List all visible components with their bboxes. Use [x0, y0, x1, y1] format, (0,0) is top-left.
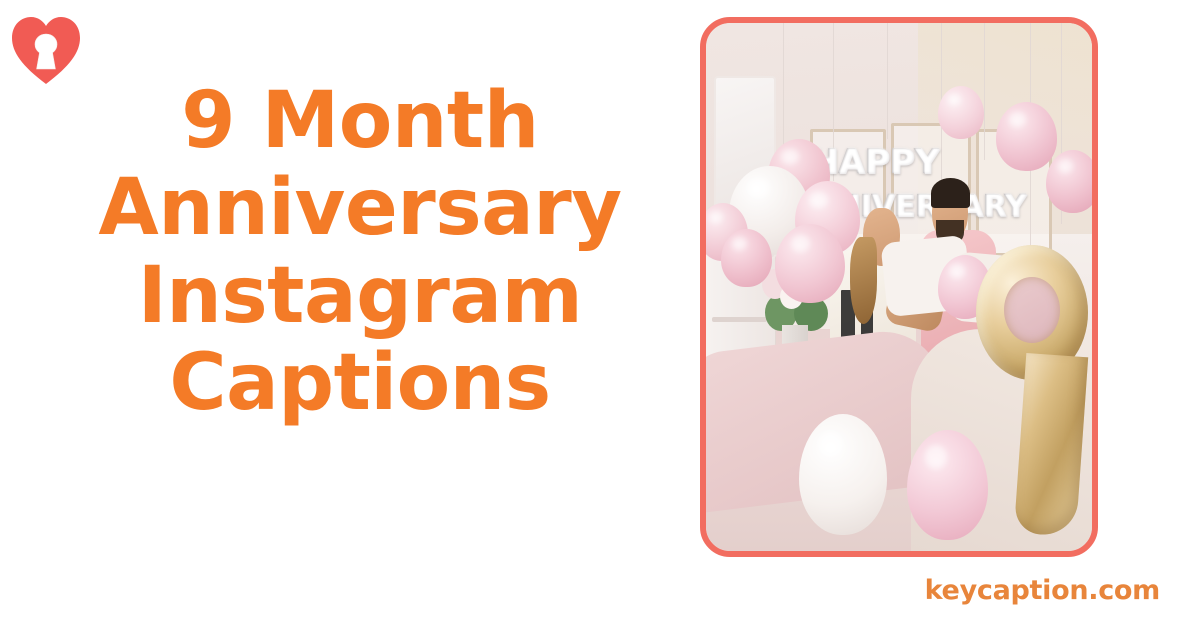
gold-balloon-hole	[1004, 277, 1060, 343]
page-title: 9 Month Anniversary Instagram Captions	[90, 78, 630, 427]
balloon-string	[887, 23, 888, 139]
dresser-drawer	[712, 317, 768, 322]
banner-happy: HAPPY	[810, 142, 939, 182]
balloon-pink-foreground	[907, 430, 988, 541]
balloon-pink	[938, 86, 984, 139]
balloon-string	[984, 23, 985, 160]
banner-happy-text: HAPPY	[810, 142, 939, 182]
photo-frame: HAPPY ANNIVERSARY	[700, 17, 1098, 557]
promo-graphic: 9 Month Anniversary Instagram Captions k…	[0, 0, 1200, 630]
balloon-pink	[775, 224, 844, 303]
balloon-pink	[996, 102, 1058, 171]
man-hair	[931, 178, 970, 209]
headline-line-2: Anniversary	[90, 165, 630, 252]
site-domain: keycaption.com	[0, 575, 1160, 606]
heart-keyhole-icon	[10, 14, 82, 88]
gold-balloon-tail	[1014, 353, 1088, 537]
anniversary-photo: HAPPY ANNIVERSARY	[706, 23, 1092, 551]
headline-line-4: Captions	[90, 340, 630, 427]
headline-line-3: Instagram	[90, 253, 630, 340]
headline-line-1: 9 Month	[90, 78, 630, 165]
balloon-pink	[721, 229, 771, 287]
